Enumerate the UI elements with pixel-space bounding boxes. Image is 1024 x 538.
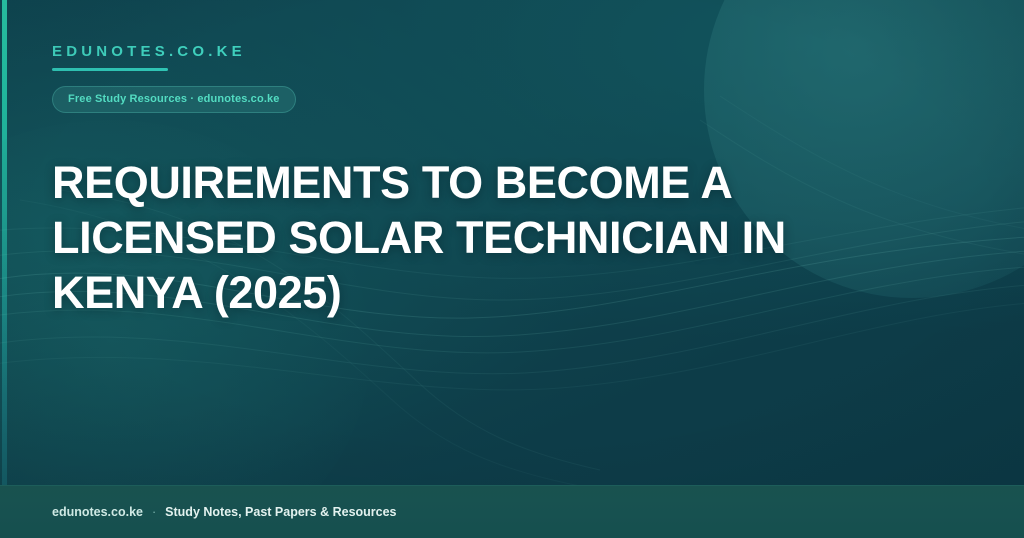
- brand-name: EDUNOTES.CO.KE: [52, 44, 246, 59]
- footer-separator: ·: [152, 505, 156, 519]
- banner-content: EDUNOTES.CO.KE Free Study Resources · ed…: [52, 0, 952, 486]
- footer-site: edunotes.co.ke: [52, 505, 143, 519]
- footer-tagline: Study Notes, Past Papers & Resources: [165, 505, 396, 519]
- brand-underline: [52, 68, 168, 71]
- footer-content: edunotes.co.ke · Study Notes, Past Paper…: [52, 486, 397, 538]
- free-resources-badge: Free Study Resources · edunotes.co.ke: [52, 86, 296, 113]
- brand-block: EDUNOTES.CO.KE: [52, 44, 246, 71]
- article-banner: EDUNOTES.CO.KE Free Study Resources · ed…: [0, 0, 1024, 538]
- banner-footer: edunotes.co.ke · Study Notes, Past Paper…: [0, 485, 1024, 538]
- page-title: Requirements to Become a Licensed Solar …: [52, 155, 812, 320]
